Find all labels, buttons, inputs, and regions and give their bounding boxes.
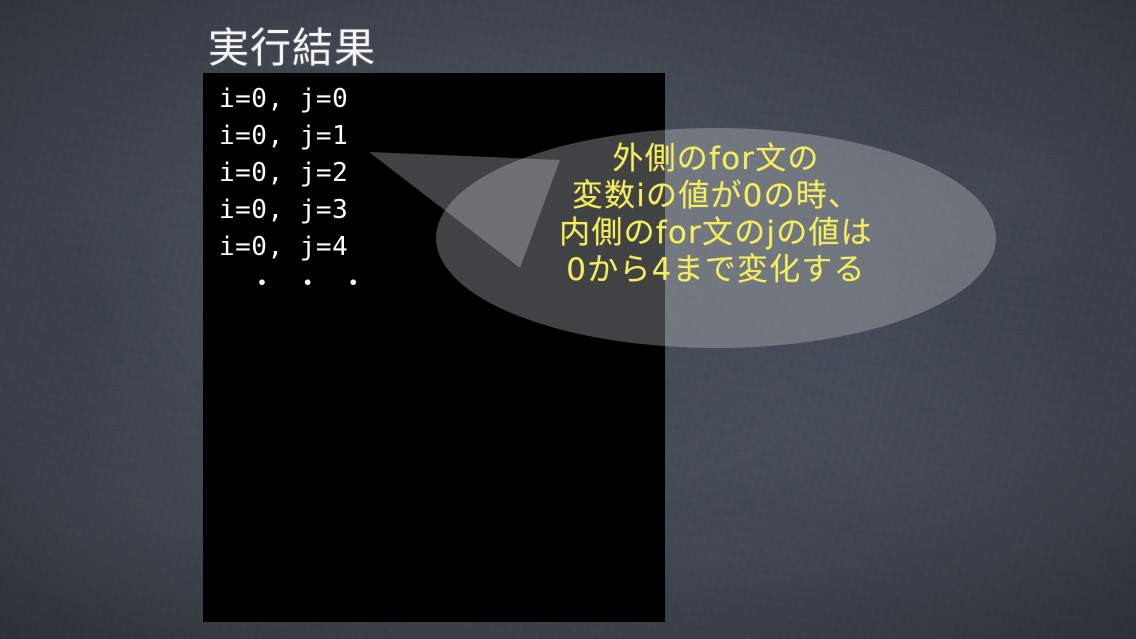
speech-bubble-line: 変数iの値が0の時、 xyxy=(466,178,966,215)
slide-canvas: 実行結果 i=0, j=0 i=0, j=1 i=0, j=2 i=0, j=3… xyxy=(0,0,1136,639)
speech-bubble-line: 内側のfor文のjの値は xyxy=(466,215,966,252)
page-title: 実行結果 xyxy=(208,22,376,74)
speech-bubble-line: 0から4まで変化する xyxy=(466,252,966,289)
console-line: i=0, j=0 xyxy=(219,81,649,118)
speech-bubble-text: 外側のfor文の 変数iの値が0の時、 内側のfor文のjの値は 0から4まで変… xyxy=(466,141,966,289)
speech-bubble-line: 外側のfor文の xyxy=(466,141,966,178)
